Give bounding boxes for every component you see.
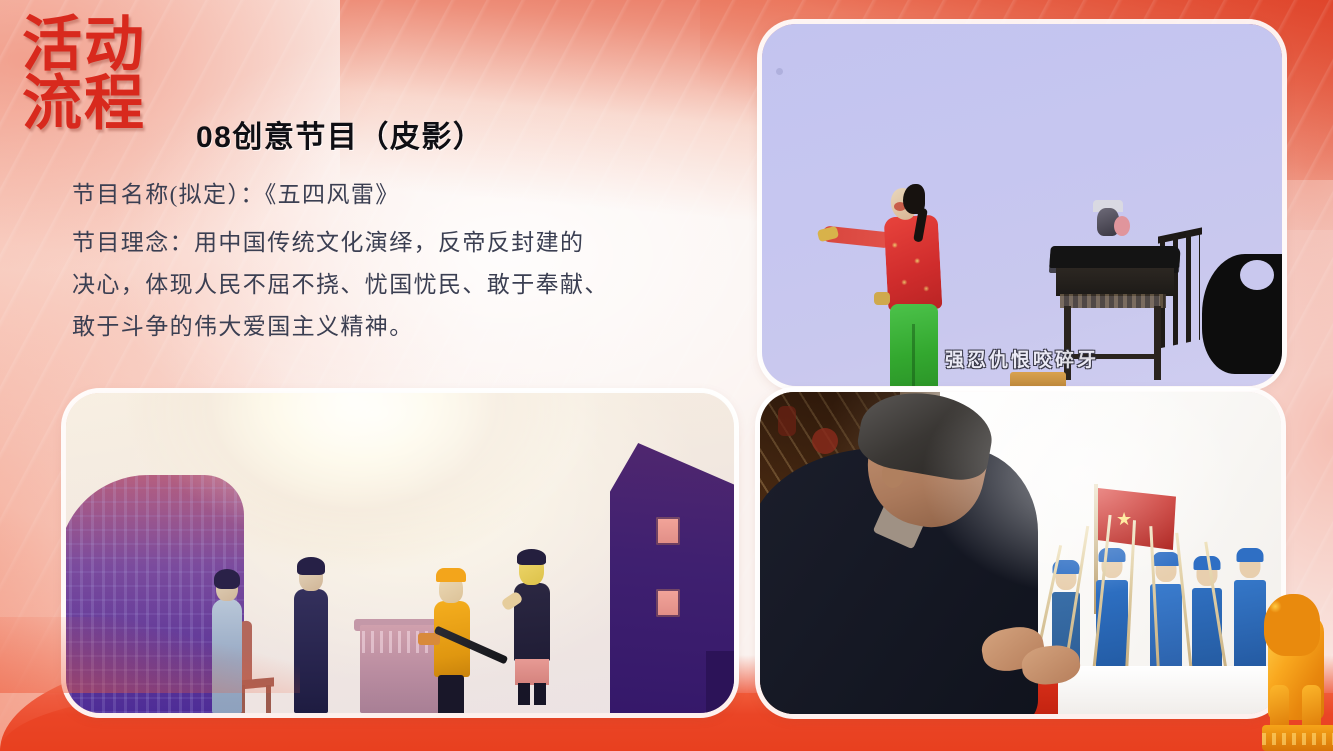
puppeteer-performing-photo: ★ xyxy=(760,392,1281,714)
section-title-line-1: 活动 xyxy=(22,16,146,75)
lion-mane xyxy=(1264,594,1320,656)
puppet-table-skirt xyxy=(1060,294,1166,308)
video-subtitle: 强忍仇恨咬碎牙 xyxy=(762,345,1282,372)
concept-line-1: 节目理念：用中国传统文化演绎，反帝反封建的 xyxy=(72,231,702,254)
program-name-line: 节目名称(拟定）：《五四风雷》 xyxy=(72,183,702,206)
program-concept-paragraph: 节目理念：用中国传统文化演绎，反帝反封建的 决心，体现人民不屈不挠、忧国忧民、敢… xyxy=(72,231,702,338)
puppet-girl-hand-right xyxy=(874,292,890,305)
section-title: 活动 流程 xyxy=(22,16,146,134)
puppet-girl-torso xyxy=(884,215,943,312)
body-text-block: 节目名称(拟定）：《五四风雷》 节目理念：用中国传统文化演绎，反帝反封建的 决心… xyxy=(72,183,702,357)
photo-a-content: 强忍仇恨咬碎牙 xyxy=(762,24,1282,386)
concept-line-2: 决心，体现人民不屈不挠、忧国忧民、敢于奉献、 xyxy=(72,273,702,296)
puppet-table-top xyxy=(1049,246,1181,268)
lion-leg-front xyxy=(1270,685,1289,729)
lion-pedestal-texture xyxy=(1262,733,1333,745)
page-title: 08创意节目（皮影） xyxy=(196,112,484,156)
puppet-table-front xyxy=(1056,268,1174,296)
puppet-basket-prop xyxy=(1010,372,1066,386)
section-title-line-2: 流程 xyxy=(22,75,146,134)
golden-lion-statue xyxy=(1262,588,1333,751)
shadow-puppet-scene-photo xyxy=(66,393,734,713)
screen-backlight-glow xyxy=(760,392,1281,714)
screen-speck xyxy=(776,68,783,75)
slide-canvas: 活动 流程 08创意节目（皮影） 节目名称(拟定）：《五四风雷》 节目理念：用中… xyxy=(0,0,1333,751)
concept-line-3: 敢于斗争的伟大爱国主义精神。 xyxy=(72,315,702,338)
lion-leg-back xyxy=(1302,685,1321,729)
scene-light-overlay xyxy=(66,393,734,713)
puppet-seated-accent xyxy=(1114,216,1130,236)
photo-c-content: ★ xyxy=(760,392,1281,714)
shadow-puppet-stage-photo: 强忍仇恨咬碎牙 xyxy=(762,24,1282,386)
puppet-stage-right-cutout xyxy=(1240,260,1274,290)
photo-b-content xyxy=(66,393,734,713)
